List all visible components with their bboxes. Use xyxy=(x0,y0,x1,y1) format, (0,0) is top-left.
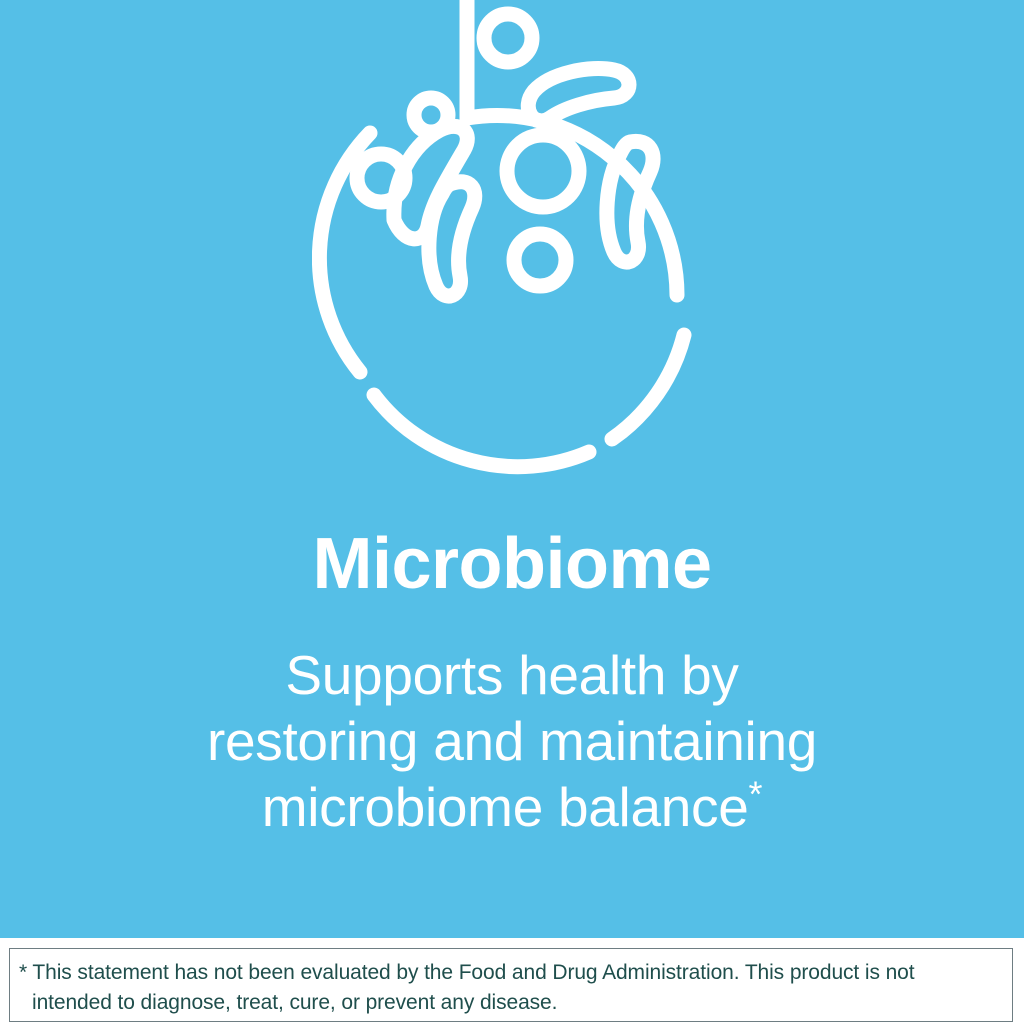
disclaimer-box: * This statement has not been evaluated … xyxy=(9,948,1013,1022)
microbe-rod-right xyxy=(607,141,653,262)
benefit-description: Supports health by restoring and maintai… xyxy=(0,642,1024,840)
dish-arc-right xyxy=(612,335,684,439)
microbe-rod-lower-center xyxy=(429,182,475,296)
microbe-coccus-left xyxy=(357,154,405,202)
page-title: Microbiome xyxy=(0,528,1024,600)
icon-container xyxy=(0,0,1024,500)
benefit-line-2: restoring and maintaining xyxy=(0,708,1024,774)
disclaimer-line-1: * This statement has not been evaluated … xyxy=(19,958,1002,988)
microbe-coccus-small-center xyxy=(414,98,448,132)
microbe-rod-upper-right xyxy=(528,69,629,122)
disclaimer-line-2: intended to diagnose, treat, cure, or pr… xyxy=(19,988,1002,1018)
microbe-coccus-top xyxy=(484,14,532,62)
microbiome-benefit-card: Microbiome Supports health by restoring … xyxy=(0,0,1024,1024)
microbe-coccus-lower-right xyxy=(514,234,566,286)
disclaimer-zone: * This statement has not been evaluated … xyxy=(0,938,1024,1024)
dish-arc-bottom xyxy=(374,395,589,467)
microbiome-petri-dish-icon xyxy=(312,0,712,490)
footnote-marker: * xyxy=(749,774,763,815)
benefit-line-3-text: microbiome balance xyxy=(262,776,749,838)
disclaimer-text: * This statement has not been evaluated … xyxy=(19,958,1002,1018)
hero-panel: Microbiome Supports health by restoring … xyxy=(0,0,1024,938)
microbe-coccus-large-center xyxy=(507,135,579,207)
benefit-line-1: Supports health by xyxy=(0,642,1024,708)
benefit-line-3: microbiome balance* xyxy=(0,774,1024,840)
